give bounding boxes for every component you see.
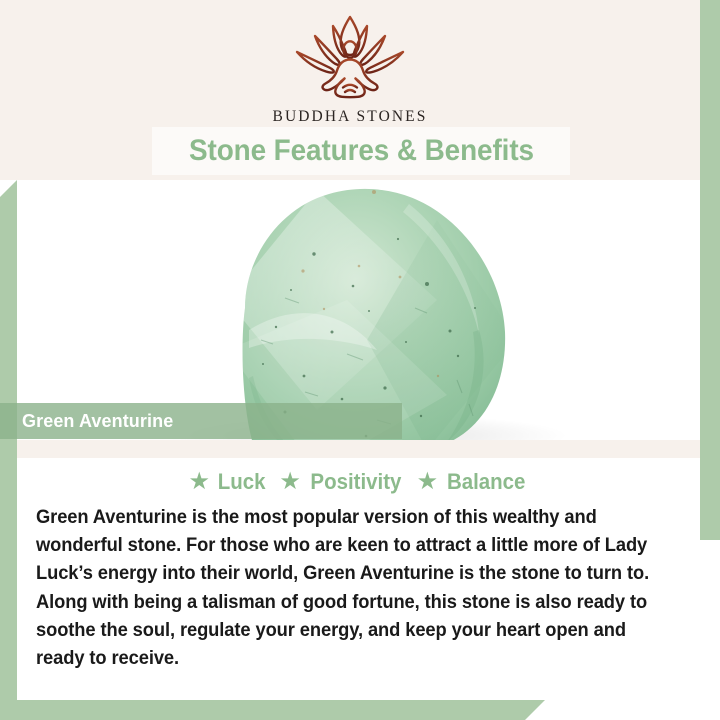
benefit-label: Balance	[447, 469, 525, 495]
brand-wordmark: BUDDHA STONES	[0, 108, 700, 126]
benefit-label: Luck	[218, 469, 266, 495]
benefit-item: ★ Positivity	[279, 469, 404, 495]
benefit-label: Positivity	[310, 469, 401, 495]
stone-name-band: Green Aventurine	[0, 403, 402, 439]
product-info-poster: BUDDHA STONES Stone Features & Benefits	[0, 0, 720, 720]
benefit-item: ★ Luck	[188, 469, 267, 495]
star-icon: ★	[417, 470, 439, 494]
star-icon: ★	[188, 470, 210, 494]
star-icon: ★	[279, 470, 301, 494]
lotus-meditation-icon	[0, 14, 700, 107]
frame-accent-right	[700, 0, 720, 540]
frame-accent-bottom	[0, 700, 545, 720]
stone-description: Green Aventurine is the most popular ver…	[36, 504, 655, 673]
frame-accent-left	[0, 180, 17, 720]
stone-name: Green Aventurine	[22, 411, 173, 432]
stone-details: ★ Luck ★ Positivity ★ Balance Green Aven…	[17, 458, 700, 700]
section-divider	[17, 440, 700, 458]
page-title-banner: Stone Features & Benefits	[152, 127, 570, 175]
brand-logo: BUDDHA STONES	[0, 14, 700, 126]
page-title: Stone Features & Benefits	[189, 134, 534, 168]
benefit-item: ★ Balance	[417, 469, 529, 495]
benefits-list: ★ Luck ★ Positivity ★ Balance	[17, 469, 700, 495]
